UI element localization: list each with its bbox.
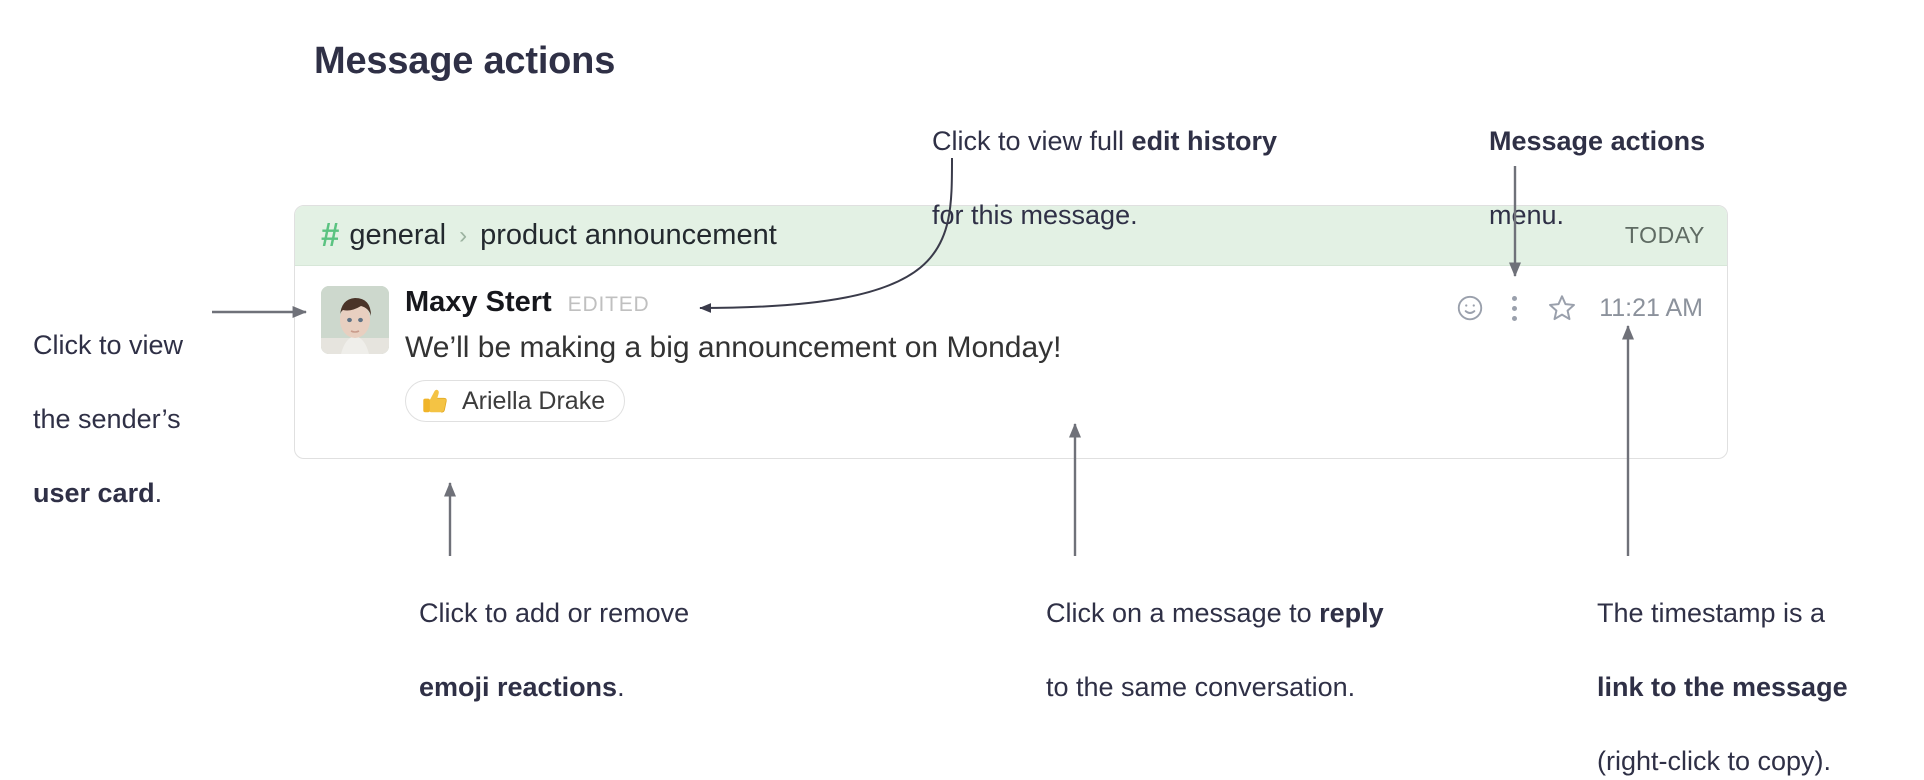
sender-name[interactable]: Maxy Stert — [405, 286, 552, 319]
annotation-bold: user card — [33, 478, 155, 508]
menu-dot — [1512, 316, 1517, 321]
annotation-text: (right-click to copy). — [1597, 746, 1831, 776]
avatar[interactable] — [321, 286, 389, 354]
message-body-text[interactable]: We’ll be making a big announcement on Mo… — [405, 329, 1703, 367]
annotation-bold: edit history — [1132, 126, 1278, 156]
emoji-reaction-icon[interactable] — [1447, 288, 1493, 328]
annotation-text: Click to view — [33, 330, 183, 360]
edited-badge[interactable]: EDITED — [568, 293, 650, 317]
page-title: Message actions — [314, 40, 615, 83]
annotation-text: Click to view full — [932, 126, 1132, 156]
annotation-text: menu. — [1489, 200, 1564, 230]
annotation-text: The timestamp is a — [1597, 598, 1825, 628]
message-timestamp-link[interactable]: 11:21 AM — [1599, 294, 1703, 323]
annotation-text: . — [155, 478, 163, 508]
annotation-text: Click to add or remove — [419, 598, 689, 628]
annotation-timestamp: The timestamp is a link to the message (… — [1597, 558, 1907, 780]
star-icon[interactable] — [1535, 288, 1589, 328]
topic-name[interactable]: product announcement — [480, 219, 777, 252]
annotation-reply: Click on a message to reply to the same … — [1046, 558, 1446, 706]
annotation-user-card: Click to view the sender’s user card. — [33, 290, 248, 512]
annotation-text: to the same conversation. — [1046, 672, 1355, 702]
annotation-bold: emoji reactions — [419, 672, 617, 702]
annotation-bold: Message actions — [1489, 126, 1705, 156]
annotation-text: . — [617, 672, 625, 702]
thumbs-up-icon — [420, 386, 450, 416]
message-row[interactable]: Maxy Stert EDITED We’ll be making a big … — [295, 266, 1727, 422]
annotation-bold: reply — [1319, 598, 1384, 628]
annotation-actions-menu: Message actions menu. — [1489, 86, 1789, 234]
emoji-reaction-pill[interactable]: Ariella Drake — [405, 380, 625, 422]
annotation-edit-history: Click to view full edit history for this… — [932, 86, 1362, 234]
annotation-bold: link to the message — [1597, 672, 1848, 702]
menu-dot — [1512, 306, 1517, 311]
hash-icon: # — [321, 218, 339, 251]
message-card: # general › product announcement TODAY M… — [294, 205, 1728, 459]
annotation-text: Click on a message to — [1046, 598, 1319, 628]
menu-dot — [1512, 296, 1517, 301]
reaction-user-label: Ariella Drake — [462, 387, 605, 416]
message-actions-menu-icon[interactable] — [1493, 288, 1535, 328]
reaction-row: Ariella Drake — [405, 380, 1703, 422]
annotation-emoji-reactions: Click to add or remove emoji reactions. — [419, 558, 749, 706]
stream-name[interactable]: general — [349, 219, 446, 252]
message-actions-group: 11:21 AM — [1447, 288, 1703, 328]
annotation-text: the sender’s — [33, 404, 181, 434]
annotation-text: for this message. — [932, 200, 1138, 230]
chevron-right-icon: › — [459, 224, 467, 248]
